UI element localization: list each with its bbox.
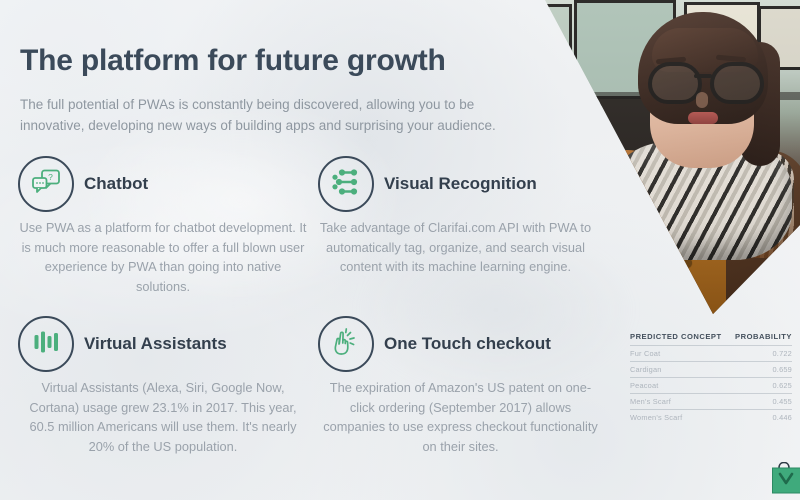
chat-bubbles-icon: ?: [31, 169, 61, 200]
shopping-bag-icon: [772, 462, 800, 494]
table-row: Fur Coat 0.722: [630, 345, 792, 361]
cell-probability: 0.625: [773, 381, 793, 390]
cell-concept: Women's Scarf: [630, 413, 682, 422]
feature-virtual-assistants: Virtual Assistants Virtual Assistants (A…: [18, 316, 308, 456]
feature-title: Virtual Assistants: [84, 334, 227, 354]
feature-title: Chatbot: [84, 174, 148, 194]
feature-body: Take advantage of Clarifai.com API with …: [318, 218, 593, 277]
feature-visual-recognition: Visual Recognition Take advantage of Cla…: [318, 156, 593, 277]
visual-icon-circle: [318, 156, 374, 212]
feature-title: Visual Recognition: [384, 174, 537, 194]
feature-one-touch-checkout: One Touch checkout The expiration of Ama…: [318, 316, 603, 456]
page-title: The platform for future growth: [20, 44, 446, 78]
page-subtitle: The full potential of PWAs is constantly…: [20, 94, 520, 136]
cell-concept: Men's Scarf: [630, 397, 671, 406]
cell-concept: Cardigan: [630, 365, 662, 374]
table-row: Women's Scarf 0.446: [630, 409, 792, 425]
prediction-table: PREDICTED CONCEPT PROBABILITY Fur Coat 0…: [630, 332, 792, 424]
table-row: Cardigan 0.659: [630, 361, 792, 377]
cell-probability: 0.455: [773, 397, 793, 406]
svg-text:?: ?: [48, 172, 53, 182]
slide-root: The platform for future growth The full …: [0, 0, 800, 500]
neural-network-icon: [331, 168, 361, 201]
cell-probability: 0.659: [773, 365, 793, 374]
cell-concept: Peacoat: [630, 381, 659, 390]
voice-waveform-icon: [32, 329, 60, 360]
column-header-probability: PROBABILITY: [735, 332, 792, 341]
cell-probability: 0.722: [773, 349, 793, 358]
cell-concept: Fur Coat: [630, 349, 660, 358]
cell-probability: 0.446: [773, 413, 793, 422]
column-header-concept: PREDICTED CONCEPT: [630, 332, 722, 341]
feature-chatbot: ? Chatbot Use PWA as a platform for chat…: [18, 156, 308, 296]
table-header-row: PREDICTED CONCEPT PROBABILITY: [630, 332, 792, 345]
feature-body: Use PWA as a platform for chatbot develo…: [18, 218, 308, 296]
assistants-icon-circle: [18, 316, 74, 372]
table-row: Men's Scarf 0.455: [630, 393, 792, 409]
coat-button: [683, 300, 692, 309]
feature-title: One Touch checkout: [384, 334, 551, 354]
feature-body: The expiration of Amazon's US patent on …: [318, 378, 603, 456]
checkout-icon-circle: [318, 316, 374, 372]
table-row: Peacoat 0.625: [630, 377, 792, 393]
tap-hand-icon: [331, 327, 361, 362]
feature-body: Virtual Assistants (Alexa, Siri, Google …: [18, 378, 308, 456]
chatbot-icon-circle: ?: [18, 156, 74, 212]
